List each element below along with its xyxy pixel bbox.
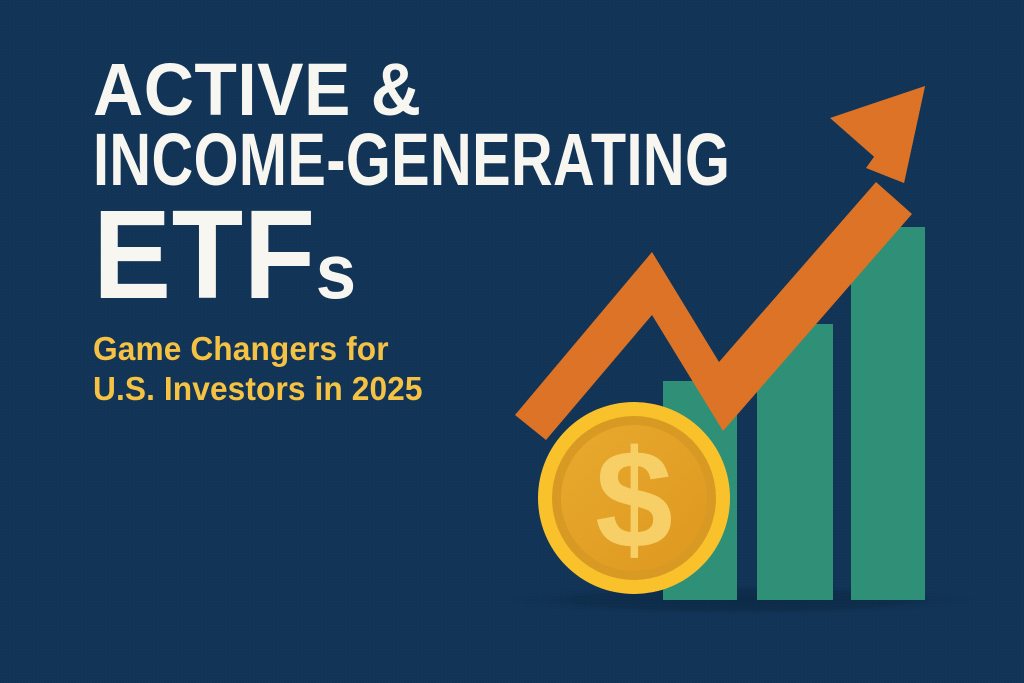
bar-3 — [851, 227, 925, 600]
subtitle-block: Game Changers for U.S. Investors in 2025 — [93, 329, 506, 410]
headline-line-2: INCOME-GENERATING — [93, 128, 428, 192]
subtitle-line-2: U.S. Investors in 2025 — [93, 369, 506, 409]
headline-line-3: ETFs — [93, 203, 493, 306]
headline-line-1: ACTIVE & — [93, 58, 497, 122]
dollar-coin: $ — [538, 402, 730, 594]
headline-etf-text: ETF — [93, 184, 316, 325]
headline-etf-plural-s: s — [316, 227, 357, 315]
poster-canvas: $ ACTIVE & INCOME-GENERATING ETFs Game C… — [0, 0, 1024, 683]
headline-block: ACTIVE & INCOME-GENERATING ETFs Game Cha… — [93, 58, 523, 409]
coin-dollar-symbol: $ — [595, 421, 673, 578]
subtitle-line-1: Game Changers for — [93, 329, 506, 369]
